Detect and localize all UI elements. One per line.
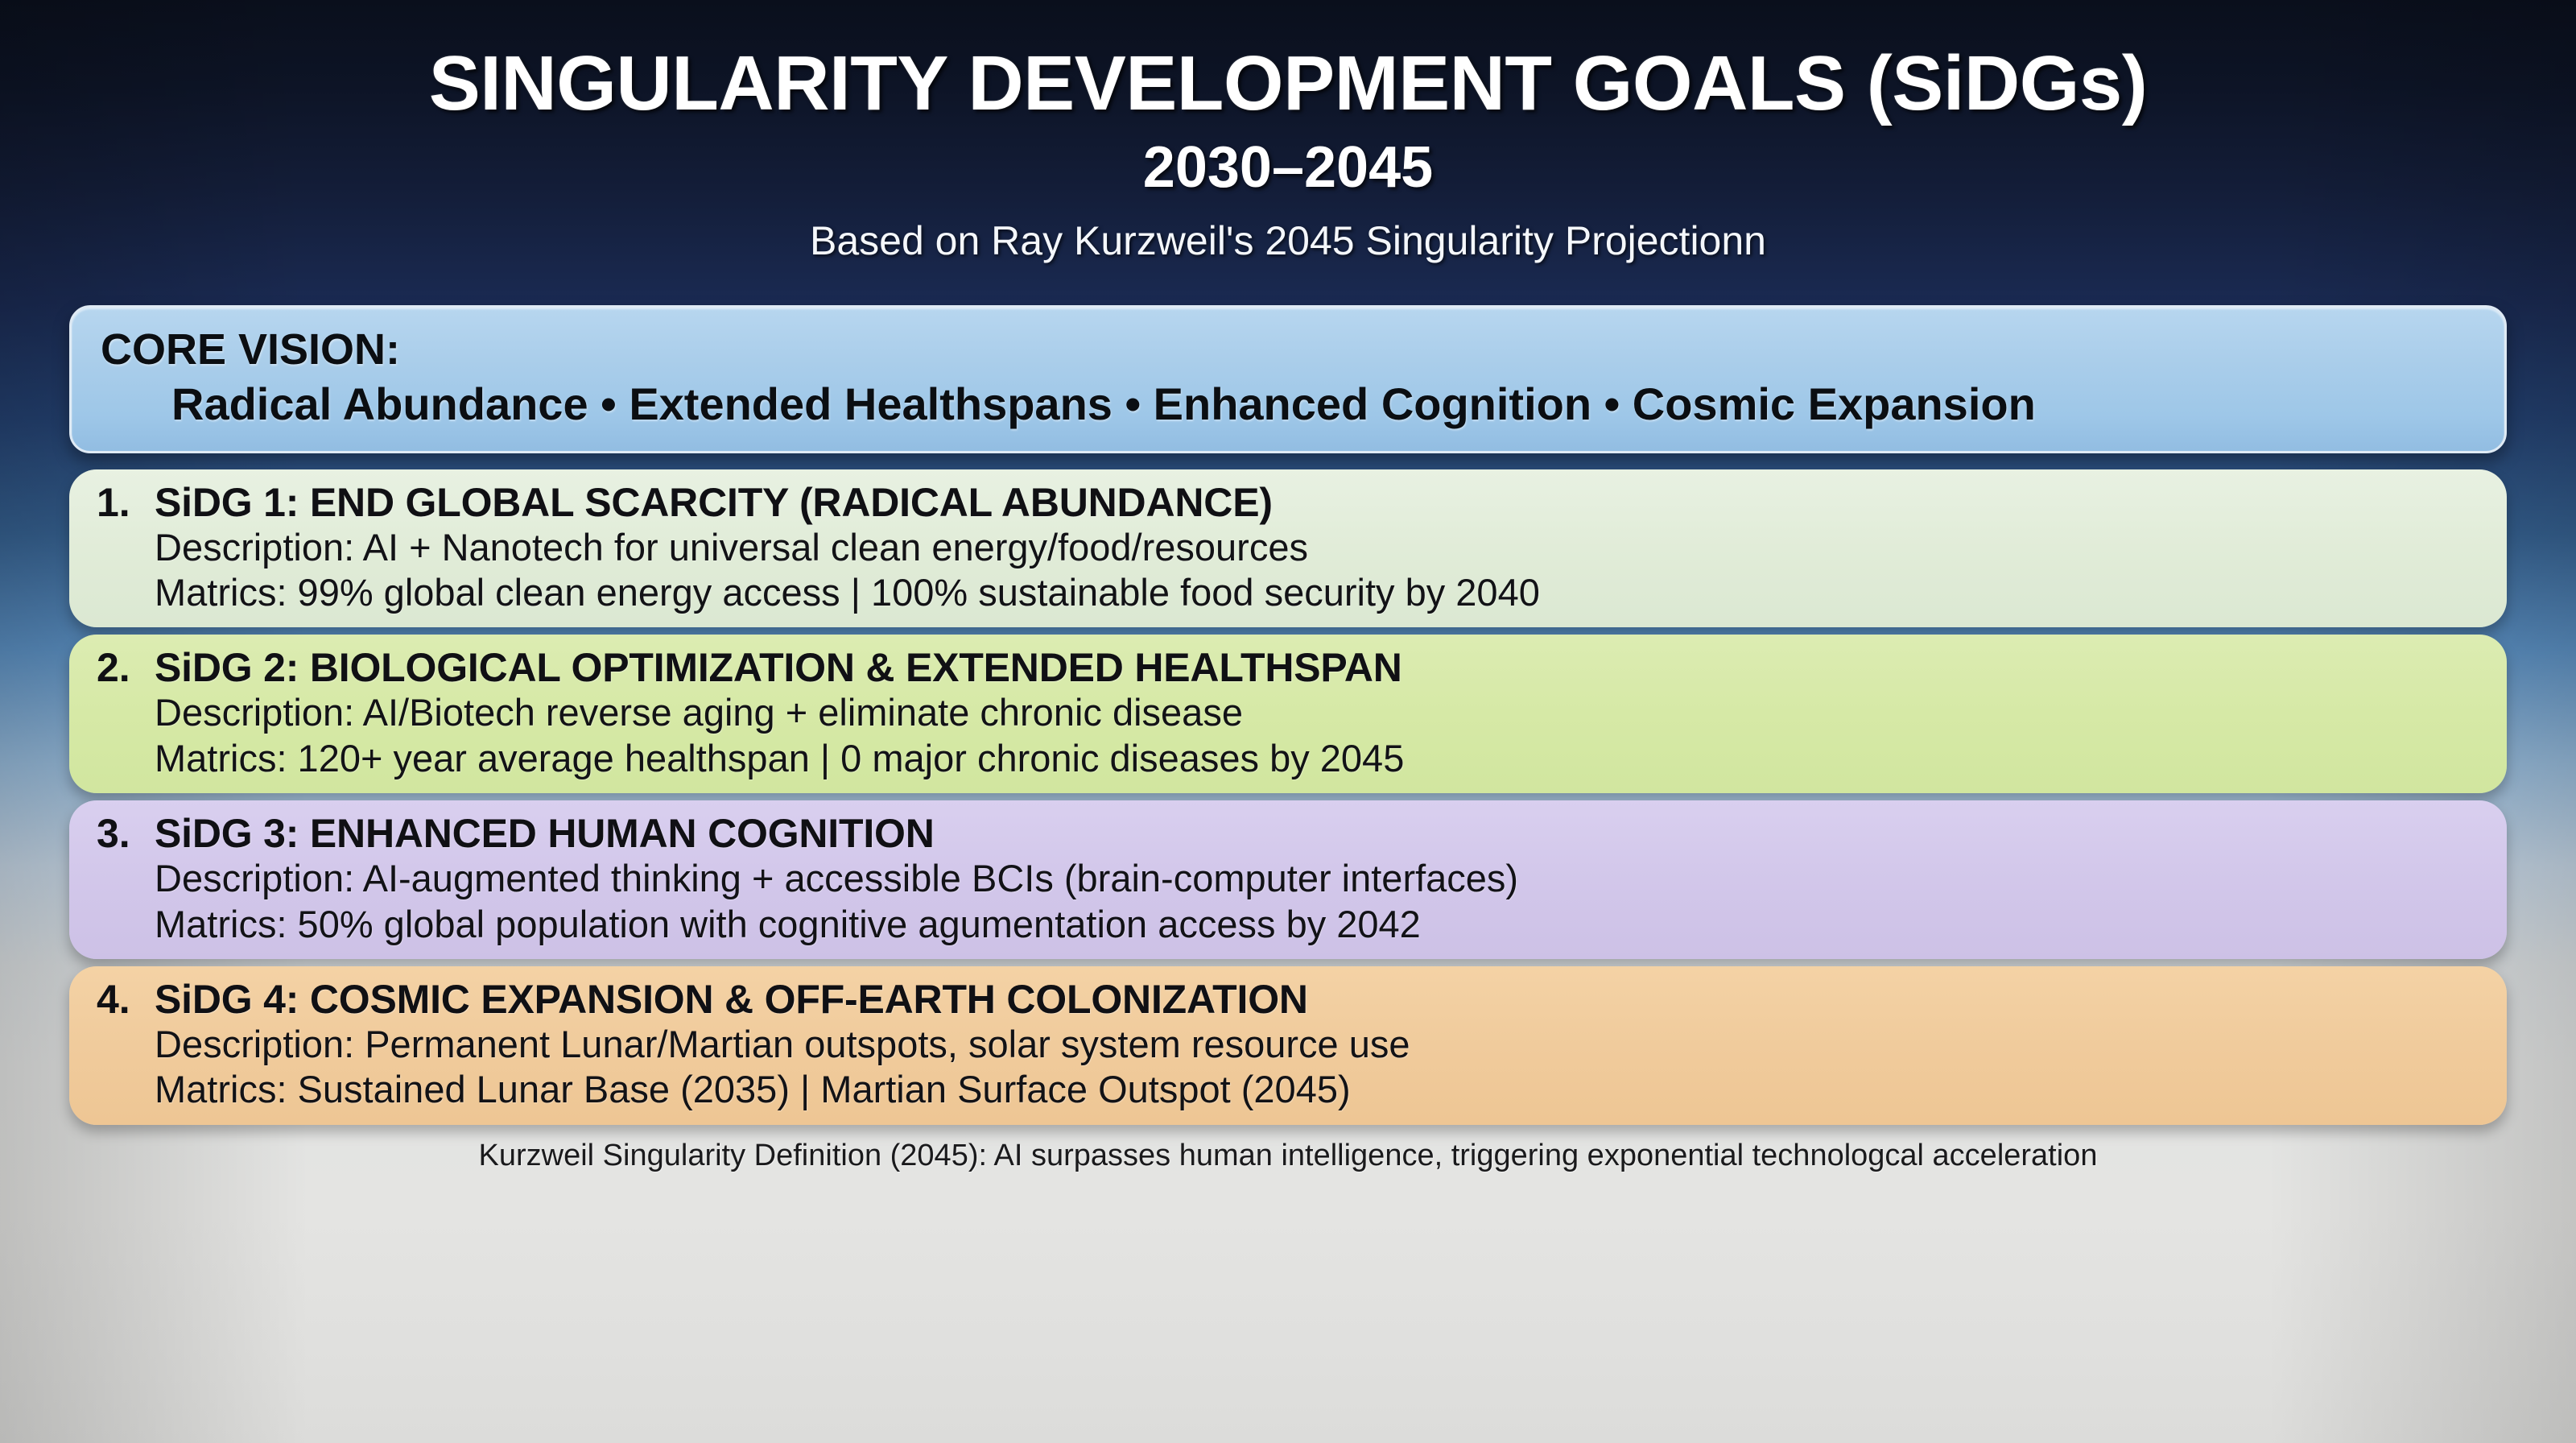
goal-number: 3. xyxy=(97,811,155,856)
core-vision-section: CORE VISION: Radical Abundance • Extende… xyxy=(69,305,2507,453)
goal-matrics: Matrics: 99% global clean energy access … xyxy=(155,570,2479,615)
goal-body: Description: AI-augmented thinking + acc… xyxy=(97,856,2479,947)
core-vision-box: CORE VISION: Radical Abundance • Extende… xyxy=(69,305,2507,453)
goal-title-row: 2. SiDG 2: BIOLOGICAL OPTIMIZATION & EXT… xyxy=(97,645,2479,690)
goal-card-4[interactable]: 4. SiDG 4: COSMIC EXPANSION & OFF-EARTH … xyxy=(69,966,2507,1125)
goal-card-2[interactable]: 2. SiDG 2: BIOLOGICAL OPTIMIZATION & EXT… xyxy=(69,635,2507,793)
goal-description: Description: AI + Nanotech for universal… xyxy=(155,525,2479,570)
goal-number: 4. xyxy=(97,977,155,1022)
footer-note: Kurzweil Singularity Definition (2045): … xyxy=(0,1138,2576,1175)
goal-description: Description: AI-augmented thinking + acc… xyxy=(155,856,2479,901)
goal-title: SiDG 1: END GLOBAL SCARCITY (RADICAL ABU… xyxy=(155,480,1273,525)
goal-body: Description: AI/Biotech reverse aging + … xyxy=(97,690,2479,781)
goal-number: 1. xyxy=(97,480,155,525)
goal-description: Description: AI/Biotech reverse aging + … xyxy=(155,690,2479,735)
goal-title: SiDG 3: ENHANCED HUMAN COGNITION xyxy=(155,811,935,856)
slide-header: SINGULARITY DEVELOPMENT GOALS (SiDGs) 20… xyxy=(0,0,2576,263)
goal-title-row: 1. SiDG 1: END GLOBAL SCARCITY (RADICAL … xyxy=(97,480,2479,525)
goal-card-3[interactable]: 3. SiDG 3: ENHANCED HUMAN COGNITION Desc… xyxy=(69,800,2507,959)
page-title: SINGULARITY DEVELOPMENT GOALS (SiDGs) xyxy=(0,43,2576,125)
goal-matrics: Matrics: 50% global population with cogn… xyxy=(155,902,2479,947)
goal-title: SiDG 2: BIOLOGICAL OPTIMIZATION & EXTEND… xyxy=(155,645,1402,690)
goal-title-row: 3. SiDG 3: ENHANCED HUMAN COGNITION xyxy=(97,811,2479,856)
goal-body: Description: Permanent Lunar/Martian out… xyxy=(97,1022,2479,1113)
slide-canvas: SINGULARITY DEVELOPMENT GOALS (SiDGs) 20… xyxy=(0,0,2576,1443)
goal-description: Description: Permanent Lunar/Martian out… xyxy=(155,1022,2479,1067)
goal-matrics: Matrics: Sustained Lunar Base (2035) | M… xyxy=(155,1067,2479,1112)
page-attribution: Based on Ray Kurzweil's 2045 Singularity… xyxy=(0,219,2576,263)
core-vision-pillars: Radical Abundance • Extended Healthspans… xyxy=(101,379,2475,430)
goals-list: 1. SiDG 1: END GLOBAL SCARCITY (RADICAL … xyxy=(69,469,2507,1125)
page-subtitle-years: 2030–2045 xyxy=(0,138,2576,199)
goal-number: 2. xyxy=(97,645,155,690)
goal-title: SiDG 4: COSMIC EXPANSION & OFF-EARTH COL… xyxy=(155,977,1308,1022)
goal-body: Description: AI + Nanotech for universal… xyxy=(97,525,2479,616)
goal-card-1[interactable]: 1. SiDG 1: END GLOBAL SCARCITY (RADICAL … xyxy=(69,469,2507,628)
goal-title-row: 4. SiDG 4: COSMIC EXPANSION & OFF-EARTH … xyxy=(97,977,2479,1022)
core-vision-label: CORE VISION: xyxy=(101,325,2475,374)
goal-matrics: Matrics: 120+ year average healthspan | … xyxy=(155,736,2479,781)
